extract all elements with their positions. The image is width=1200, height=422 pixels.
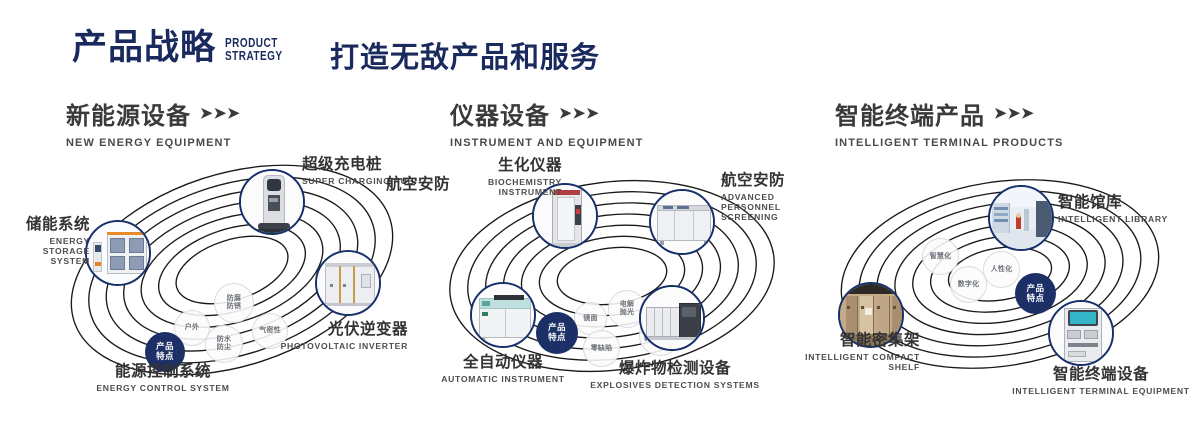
node-automatic-instrument[interactable] [470, 282, 536, 348]
label-cn: 全自动仪器 [418, 350, 588, 372]
label-en: AUTOMATIC INSTRUMENT [418, 374, 588, 384]
label-cn: 智能密集架 [800, 328, 920, 350]
label-en: EXPLOSIVES DETECTION SYSTEMS [580, 380, 770, 390]
feature-bubble: 人性化 [983, 251, 1020, 288]
label-explosives-detection: 爆炸物检测设备 EXPLOSIVES DETECTION SYSTEMS [580, 356, 770, 390]
cluster-intelligent-terminal: 智慧化 数字化 人性化 产品 特点 [810, 150, 1200, 400]
product-features-badge: 产品 特点 [536, 312, 578, 354]
label-cn: 生化仪器 [430, 153, 562, 175]
cluster-new-energy: 户外 防腐 防锈 防水 防尘 气密性 产品 特点 [0, 150, 420, 400]
label-cn: 爆炸物检测设备 [580, 356, 770, 378]
node-intelligent-library[interactable] [988, 185, 1054, 251]
label-en: INTELLIGENT LIBRARY [1058, 214, 1168, 224]
explosives-detection-photo [641, 287, 703, 349]
intelligent-terminal-equipment-photo [1050, 302, 1112, 364]
section-title-intelligent-terminal: 智能终端产品 ➤➤➤ INTELLIGENT TERMINAL PRODUCTS [835, 96, 1063, 149]
section-title-en: INTELLIGENT TERMINAL PRODUCTS [835, 137, 1063, 149]
energy-storage-photo [87, 222, 149, 284]
page-subtitle: 打造无敌产品和服务 [330, 34, 600, 76]
node-advanced-personnel-screening[interactable] [649, 189, 715, 255]
advanced-personnel-screening-photo [651, 191, 713, 253]
label-en: PHOTOVOLTAIC INVERTER [228, 341, 408, 351]
label-en: ENERGY CONTROL SYSTEM [38, 383, 288, 393]
section-title-cn: 新能源设备 [66, 96, 191, 131]
label-cn: 光伏逆变器 [228, 317, 408, 339]
label-photovoltaic-inverter: 光伏逆变器 PHOTOVOLTAIC INVERTER [228, 317, 408, 351]
label-cn: 超级充电桩 [302, 152, 414, 174]
label-cn: 航空安防 [721, 168, 820, 190]
label-cn: 智能终端设备 [1006, 362, 1196, 384]
node-super-charging-hub[interactable] [239, 169, 305, 235]
label-biochemistry-instrument: 生化仪器 BIOCHEMISTRY INSTRUMENT [430, 153, 562, 197]
automatic-instrument-photo [472, 284, 534, 346]
label-intelligent-library: 智能馆库 INTELLIGENT LIBRARY [1058, 190, 1168, 224]
product-strategy-infographic: 产品战略 PRODUCT STRATEGY 打造无敌产品和服务 新能源设备 ➤➤… [0, 0, 1200, 422]
label-cn: 储能系统 [0, 212, 90, 234]
intelligent-library-photo [990, 187, 1052, 249]
section-title-en: INSTRUMENT AND EQUIPMENT [450, 137, 643, 149]
super-charging-hub-photo [241, 171, 303, 233]
label-energy-storage-system: 储能系统 ENERGY STORAGE SYSTEM [0, 212, 90, 266]
label-cn: 智能馆库 [1058, 190, 1168, 212]
label-en: ADVANCED PERSONNEL SCREENING [721, 192, 820, 222]
chevrons-icon: ➤➤➤ [994, 106, 1034, 121]
chevrons-icon: ➤➤➤ [559, 106, 599, 121]
feature-bubble: 智慧化 [922, 238, 959, 275]
feature-bubble: 数字化 [950, 266, 987, 303]
section-title-new-energy: 新能源设备 ➤➤➤ NEW ENERGY EQUIPMENT [66, 96, 240, 149]
node-photovoltaic-inverter[interactable] [315, 250, 381, 316]
label-cn: 能源控制系统 [38, 359, 288, 381]
page-title-cn: 产品战略 [72, 30, 216, 65]
node-explosives-detection[interactable] [639, 285, 705, 351]
photovoltaic-inverter-photo [317, 252, 379, 314]
label-intelligent-compact-shelf: 智能密集架 INTELLIGENT COMPACT SHELF [800, 328, 920, 372]
label-en: INTELLIGENT TERMINAL EQUIPMENT [1006, 386, 1196, 396]
page-header: 产品战略 PRODUCT STRATEGY [72, 30, 297, 65]
node-energy-storage-system[interactable] [85, 220, 151, 286]
label-en: ENERGY STORAGE SYSTEM [0, 236, 90, 266]
node-intelligent-terminal-equipment[interactable] [1048, 300, 1114, 366]
section-title-instrument: 仪器设备 ➤➤➤ INSTRUMENT AND EQUIPMENT [450, 96, 643, 149]
page-title-en: PRODUCT STRATEGY [225, 37, 283, 63]
cluster-instrument: 镜面 电解 抛光 零缺陷 钣金与 机加工结合 产品 特点 [400, 150, 820, 400]
label-en: BIOCHEMISTRY INSTRUMENT [430, 177, 562, 197]
chevrons-icon: ➤➤➤ [200, 106, 240, 121]
section-title-cn: 仪器设备 [450, 96, 550, 131]
label-automatic-instrument: 全自动仪器 AUTOMATIC INSTRUMENT [418, 350, 588, 384]
label-advanced-personnel-screening: 航空安防 ADVANCED PERSONNEL SCREENING [721, 168, 820, 222]
section-title-en: NEW ENERGY EQUIPMENT [66, 137, 240, 149]
section-title-cn: 智能终端产品 [835, 96, 985, 131]
label-en: INTELLIGENT COMPACT SHELF [800, 352, 920, 372]
label-intelligent-terminal-equipment: 智能终端设备 INTELLIGENT TERMINAL EQUIPMENT [1006, 362, 1196, 396]
label-energy-control-system: 能源控制系统 ENERGY CONTROL SYSTEM [38, 359, 288, 393]
